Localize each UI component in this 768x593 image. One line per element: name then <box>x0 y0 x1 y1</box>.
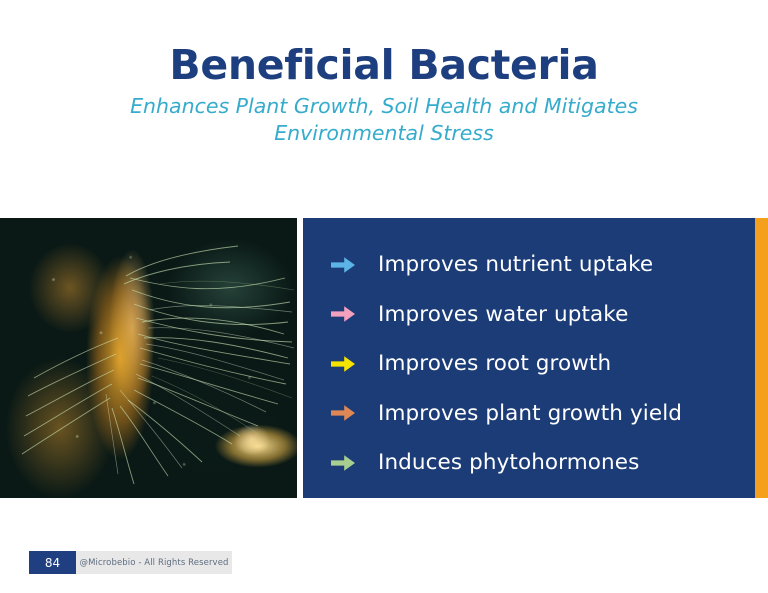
page-title: Beneficial Bacteria <box>0 44 768 87</box>
benefit-item: Improves root growth <box>330 339 755 389</box>
title-block: Beneficial Bacteria Enhances Plant Growt… <box>0 44 768 147</box>
arrow-right-icon <box>330 404 364 422</box>
page-subtitle: Enhances Plant Growth, Soil Health and M… <box>0 93 768 147</box>
copyright-notice: @Microbebio - All Rights Reserved <box>76 551 232 574</box>
benefit-label: Improves plant growth yield <box>364 401 682 426</box>
arrow-right-icon <box>330 256 364 274</box>
benefit-label: Improves root growth <box>364 351 611 376</box>
orange-accent-bar <box>755 218 768 498</box>
arrow-right-icon <box>330 305 364 323</box>
benefit-label: Improves nutrient uptake <box>364 252 653 277</box>
benefit-label: Improves water uptake <box>364 302 628 327</box>
slide-canvas: Beneficial Bacteria Enhances Plant Growt… <box>0 0 768 593</box>
benefits-panel: Improves nutrient uptakeImproves water u… <box>303 218 755 498</box>
benefit-item: Improves nutrient uptake <box>330 240 755 290</box>
benefit-item: Improves water uptake <box>330 290 755 340</box>
root-microbiome-photo <box>0 218 297 498</box>
arrow-right-icon <box>330 355 364 373</box>
page-number-badge: 84 <box>29 551 76 574</box>
slide-footer: 84 @Microbebio - All Rights Reserved <box>29 551 232 574</box>
benefit-label: Induces phytohormones <box>364 450 639 475</box>
benefit-item: Improves plant growth yield <box>330 389 755 439</box>
benefits-list: Improves nutrient uptakeImproves water u… <box>303 218 755 498</box>
benefit-item: Induces phytohormones <box>330 438 755 488</box>
photo-speckle-detail <box>0 218 297 498</box>
arrow-right-icon <box>330 454 364 472</box>
